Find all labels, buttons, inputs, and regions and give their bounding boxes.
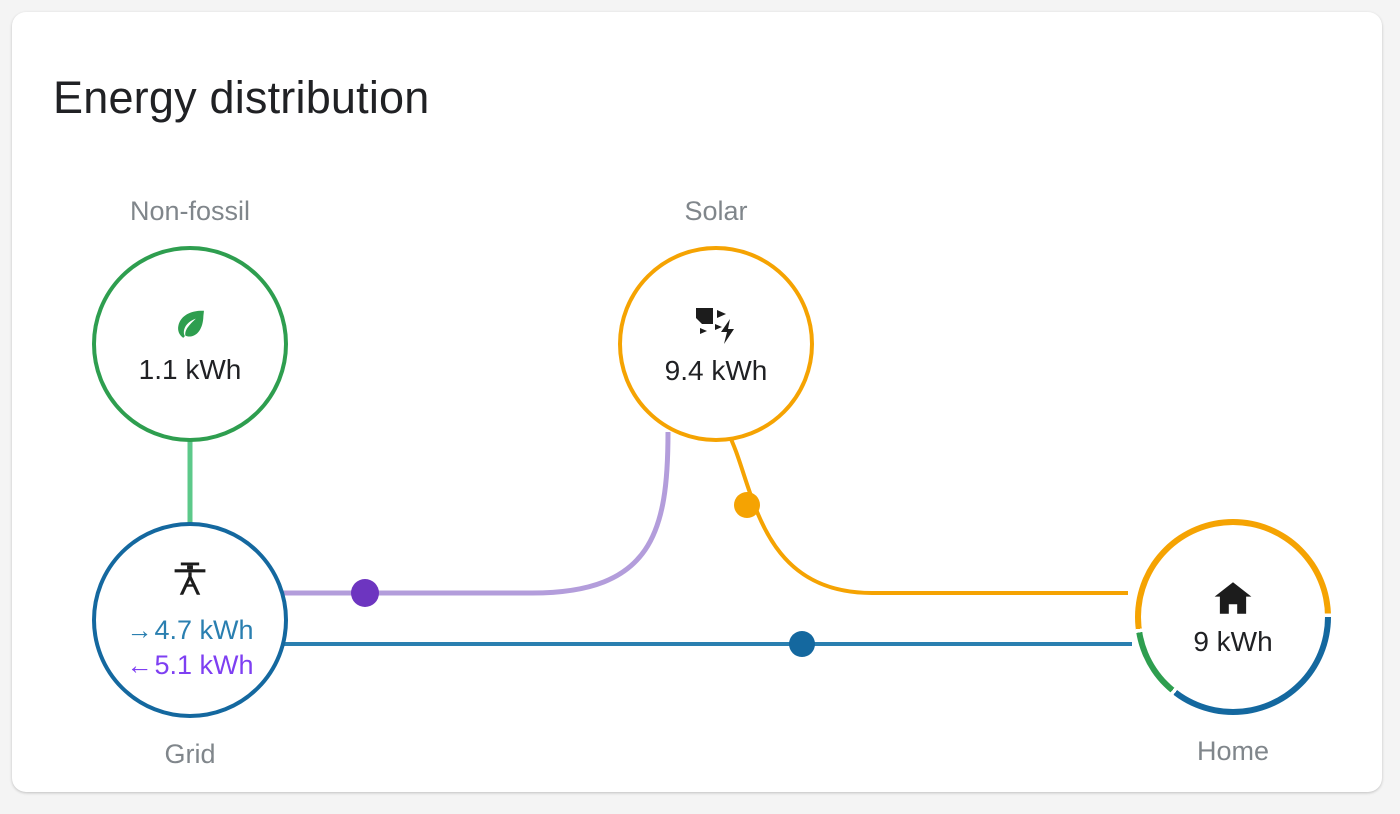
node-solar-caption: Solar (566, 196, 866, 227)
node-non-fossil-caption: Non-fossil (40, 196, 340, 227)
node-non-fossil-value: 1.1 kWh (139, 355, 242, 386)
home-icon (1210, 577, 1256, 619)
node-grid[interactable]: → 4.7 kWh ← 5.1 kWh Grid (92, 522, 288, 718)
node-solar-value: 9.4 kWh (665, 356, 768, 387)
energy-distribution-card: Energy distribution Non-fossil (12, 12, 1382, 792)
node-solar[interactable]: Solar 9.4 kWh (618, 246, 814, 442)
flow-dot-solar-to-home (734, 492, 760, 518)
node-non-fossil-content: 1.1 kWh (92, 246, 288, 442)
transmission-tower-icon (168, 557, 212, 601)
node-grid-caption: Grid (40, 739, 340, 770)
node-solar-content: 9.4 kWh (618, 246, 814, 442)
node-non-fossil[interactable]: Non-fossil 1.1 kWh (92, 246, 288, 442)
node-home-content: 9 kWh (1135, 519, 1331, 715)
node-home[interactable]: 9 kWh Home (1135, 519, 1331, 715)
grid-to-grid-value: 4.7 kWh (154, 613, 253, 648)
energy-flow-diagram: Non-fossil 1.1 kWh Solar (12, 12, 1382, 792)
arrow-right-icon: → (126, 614, 152, 647)
flow-solar-to-home (728, 433, 1128, 593)
node-home-caption: Home (1083, 736, 1382, 767)
leaf-icon (168, 303, 212, 347)
flow-dot-grid-to-home (789, 631, 815, 657)
arrow-left-icon: ← (126, 649, 152, 682)
node-grid-content: → 4.7 kWh ← 5.1 kWh (92, 522, 288, 718)
grid-from-grid-value: 5.1 kWh (154, 648, 253, 683)
solar-panel-bolt-icon (690, 302, 742, 348)
grid-to-grid-row: → 4.7 kWh (126, 613, 253, 648)
grid-from-grid-row: ← 5.1 kWh (126, 648, 253, 683)
node-home-value: 9 kWh (1193, 627, 1272, 658)
flow-dot-solar-to-grid (351, 579, 379, 607)
node-grid-values: → 4.7 kWh ← 5.1 kWh (126, 613, 253, 682)
